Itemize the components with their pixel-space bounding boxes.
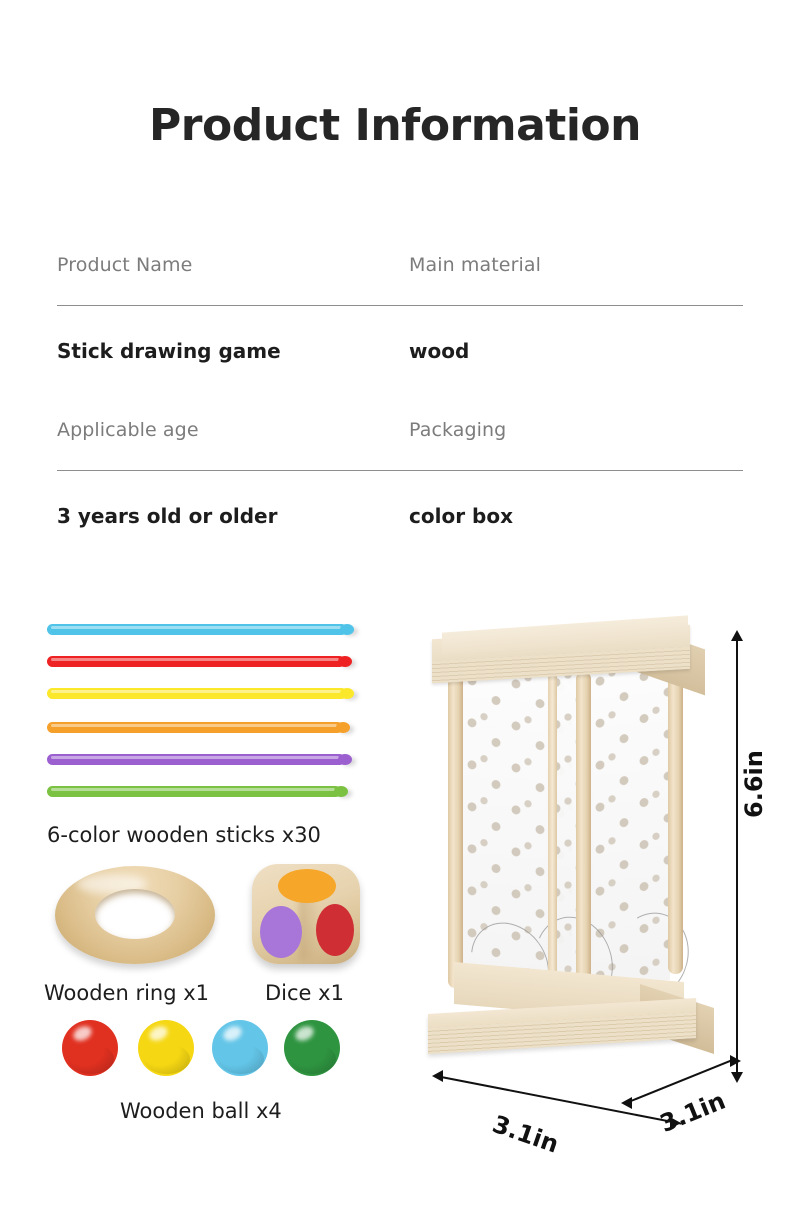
dice-caption: Dice x1: [265, 978, 344, 1008]
height-arrow-up-icon: [731, 630, 743, 641]
spec-cell-right: color box: [400, 471, 743, 530]
stick-cap: [340, 624, 354, 635]
stick-red: [47, 656, 345, 667]
ring-torus: [55, 866, 215, 964]
ball-shading: [290, 1044, 336, 1074]
depth-dimension-label: 3.1in: [656, 1087, 729, 1138]
stick-gloss: [51, 690, 341, 693]
spec-value: wood: [409, 337, 733, 365]
stick-green: [47, 786, 341, 797]
spec-cell-right: wood: [400, 306, 743, 365]
stick-orange: [47, 722, 343, 733]
stick-cap: [334, 786, 348, 797]
ball-yellow: [138, 1020, 194, 1076]
page-title: Product Information: [0, 100, 790, 151]
ball-shading: [68, 1044, 114, 1074]
dice-cube: [252, 864, 360, 964]
width-dimension-line: [436, 1075, 682, 1125]
stick-cap: [336, 722, 350, 733]
spec-cell-left: Applicable age: [57, 417, 400, 443]
height-dimension-label: 6.6in: [740, 750, 768, 818]
width-arrow-left-icon: [432, 1070, 443, 1082]
stick-gloss: [51, 724, 337, 727]
ball-highlight: [293, 1024, 316, 1044]
sticks-caption: 6-color wooden sticks x30: [47, 820, 321, 850]
dice-face-red: [316, 904, 354, 956]
spec-row: Applicable age Packaging 3 years old or …: [57, 417, 743, 530]
spec-value: color box: [409, 502, 733, 530]
ball-shading: [218, 1044, 264, 1074]
spec-label: Packaging: [409, 417, 733, 443]
tower-dowel-center: [548, 672, 557, 986]
spec-cell-right: Packaging: [400, 417, 743, 443]
spec-value: Stick drawing game: [57, 337, 390, 365]
spec-label: Product Name: [57, 252, 390, 278]
stick-gloss: [51, 788, 335, 791]
height-arrow-down-icon: [731, 1072, 743, 1083]
depth-arrow-left-icon: [621, 1097, 632, 1109]
spec-cell-left: 3 years old or older: [57, 471, 400, 530]
spec-row: Product Name Main material Stick drawing…: [57, 252, 743, 365]
ball-light-blue: [212, 1020, 268, 1076]
ball-highlight: [147, 1024, 170, 1044]
ball-highlight: [71, 1024, 94, 1044]
spec-cell-left: Product Name: [57, 252, 400, 278]
ball-highlight: [221, 1024, 244, 1044]
depth-arrow-right-icon: [730, 1055, 741, 1067]
stick-gloss: [51, 626, 341, 629]
tower-dowel-front-left: [448, 670, 463, 988]
wooden-balls-image: [62, 1020, 352, 1080]
wooden-sticks-image: [47, 624, 362, 812]
tower-dowel-front-right: [576, 672, 591, 992]
spec-cell-right: Main material: [400, 252, 743, 278]
stick-gloss: [51, 756, 339, 759]
wooden-ring-image: [55, 866, 215, 966]
ball-red: [62, 1020, 118, 1076]
ring-hole: [95, 889, 175, 939]
ring-caption: Wooden ring x1: [44, 978, 209, 1008]
balls-caption: Wooden ball x4: [120, 1096, 282, 1126]
parts-list: [0, 624, 400, 812]
dice-face-purple: [260, 906, 302, 958]
ball-shading: [144, 1044, 190, 1074]
width-dimension-label: 3.1in: [489, 1110, 562, 1159]
spec-row-gap: [57, 365, 743, 417]
stick-cap: [338, 656, 352, 667]
spec-label: Main material: [409, 252, 733, 278]
stick-cap: [338, 754, 352, 765]
product-information-page: Product Information Product Name Main ma…: [0, 0, 790, 1231]
height-dimension-line: [736, 636, 738, 1080]
tower-illustration: 6.6in 3.1in 3.1in: [418, 620, 738, 1100]
product-photo: 6.6in 3.1in 3.1in: [418, 620, 790, 1180]
tower-dowel-back-right: [668, 664, 683, 974]
stick-gloss: [51, 658, 339, 661]
dice-image: [252, 864, 364, 968]
spec-value: 3 years old or older: [57, 502, 390, 530]
stick-purple: [47, 754, 345, 765]
spec-cell-left: Stick drawing game: [57, 306, 400, 365]
spec-label: Applicable age: [57, 417, 390, 443]
dice-face-orange: [278, 869, 336, 903]
stick-yellow: [47, 688, 347, 699]
spec-table: Product Name Main material Stick drawing…: [57, 252, 743, 530]
stick-cap: [340, 688, 354, 699]
ball-green: [284, 1020, 340, 1076]
stick-light-blue: [47, 624, 347, 635]
